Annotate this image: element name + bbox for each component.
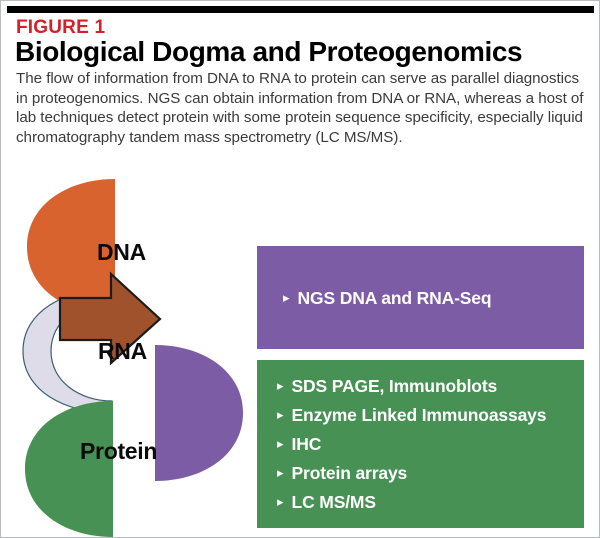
node-label-dna: DNA: [97, 239, 146, 266]
list-item: ▸ IHC: [257, 433, 584, 455]
node-label-protein: Protein: [80, 438, 157, 465]
list-item-label: IHC: [292, 433, 322, 455]
list-item-label: Enzyme Linked Immunoassays: [292, 404, 547, 426]
nucleic-acid-methods-panel: ▸ NGS DNA and RNA-Seq: [257, 246, 584, 349]
figure-caption: The flow of information from DNA to RNA …: [16, 69, 588, 147]
list-item-label: Protein arrays: [292, 462, 408, 484]
list-item: ▸ Enzyme Linked Immunoassays: [257, 404, 584, 426]
protein-arc-icon: [25, 401, 113, 537]
node-label-rna: RNA: [98, 338, 147, 365]
protein-methods-panel: ▸ SDS PAGE, Immunoblots ▸ Enzyme Linked …: [257, 360, 584, 528]
list-item: ▸ Protein arrays: [257, 462, 584, 484]
figure-container: FIGURE 1 Biological Dogma and Proteogeno…: [0, 0, 600, 538]
translation-arc-icon: [155, 345, 243, 481]
list-item: ▸ NGS DNA and RNA-Seq: [257, 287, 584, 309]
list-item: ▸ LC MS/MS: [257, 491, 584, 513]
triangle-bullet-icon: ▸: [277, 491, 284, 513]
triangle-bullet-icon: ▸: [283, 287, 290, 309]
triangle-bullet-icon: ▸: [277, 375, 284, 397]
list-item-label: NGS DNA and RNA-Seq: [298, 287, 492, 309]
top-rule-divider: [7, 6, 594, 13]
list-item-label: LC MS/MS: [292, 491, 376, 513]
list-item: ▸ SDS PAGE, Immunoblots: [257, 375, 584, 397]
triangle-bullet-icon: ▸: [277, 404, 284, 426]
triangle-bullet-icon: ▸: [277, 462, 284, 484]
list-item-label: SDS PAGE, Immunoblots: [292, 375, 498, 397]
triangle-bullet-icon: ▸: [277, 433, 284, 455]
figure-title: Biological Dogma and Proteogenomics: [15, 36, 522, 68]
